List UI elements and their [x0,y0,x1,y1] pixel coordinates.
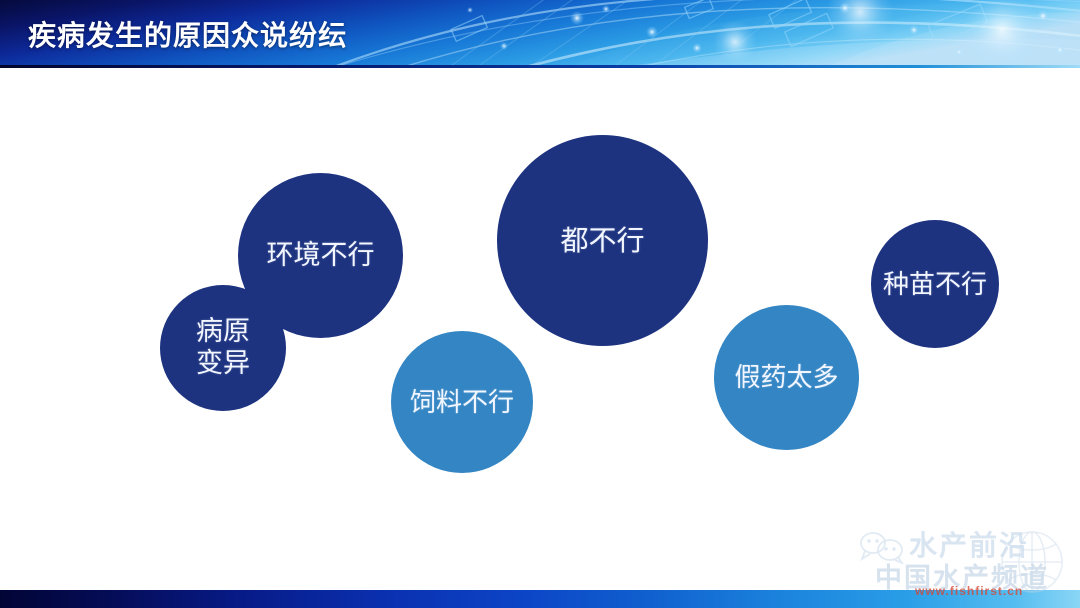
bubble-environment-bad[interactable]: 环境不行 [238,173,403,338]
bubble-fake-medicine[interactable]: 假药太多 [714,305,859,450]
bubble-label-line-2: 变异 [196,348,250,380]
bubble-all-bad[interactable]: 都不行 [497,135,708,346]
bubble-label: 病原变异 [196,316,250,380]
bubble-label: 假药太多 [734,362,838,393]
bubble-label: 饲料不行 [410,387,514,418]
slide-header: 疾病发生的原因众说纷纭 [0,0,1080,68]
bubble-label: 都不行 [560,224,644,257]
bubble-feed-bad[interactable]: 饲料不行 [391,331,533,473]
bubble-label: 种苗不行 [883,269,987,300]
watermark: 水产前沿 中国水产频道 www.fishfirst.cn [857,518,1072,602]
page-title: 疾病发生的原因众说纷纭 [28,14,347,54]
bubble-label-line-1: 病原 [196,316,250,348]
bubble-diagram: 病原变异环境不行饲料不行都不行假药太多种苗不行 [0,68,1080,590]
bubble-seedling-bad[interactable]: 种苗不行 [871,220,999,348]
bubble-label: 环境不行 [267,240,375,272]
header-underline [0,65,1080,68]
watermark-url: www.fishfirst.cn [915,584,1023,598]
slide-canvas: 疾病发生的原因众说纷纭 病原变异环境不行饲料不行都不行假药太多种苗不行 [0,0,1080,608]
